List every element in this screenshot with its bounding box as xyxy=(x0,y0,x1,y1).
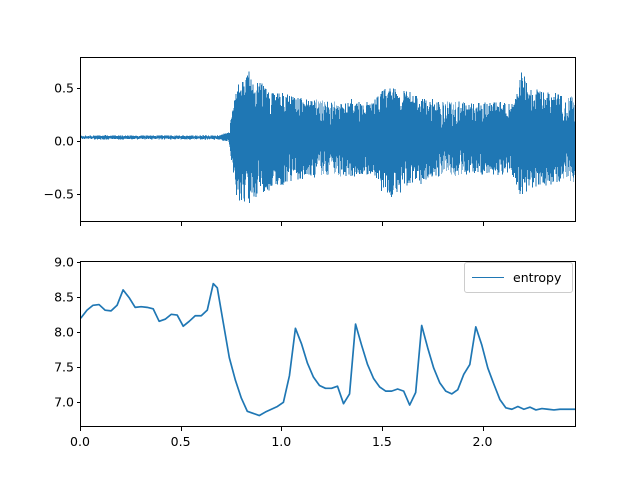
entropy-xtick-label-2: 1.0 xyxy=(271,434,291,449)
waveform-ytick-label-2: −0.5 xyxy=(20,187,74,202)
entropy-ytick-label-3: 7.5 xyxy=(26,359,74,374)
waveform-ytick-mark-1 xyxy=(77,141,81,142)
waveform-xtick-mark-0 xyxy=(80,222,81,226)
entropy-xtick-label-4: 2.0 xyxy=(473,434,493,449)
legend[interactable]: entropy xyxy=(464,262,573,293)
entropy-xtick-mark-0 xyxy=(80,427,81,431)
entropy-xtick-label-0: 0.0 xyxy=(70,434,90,449)
entropy-ytick-label-2: 8.0 xyxy=(26,324,74,339)
entropy-ytick-label-0: 9.0 xyxy=(26,254,74,269)
legend-line-icon xyxy=(472,277,504,278)
entropy-xtick-mark-3 xyxy=(382,427,383,431)
waveform-axes xyxy=(80,57,576,222)
waveform-xtick-mark-2 xyxy=(281,222,282,226)
entropy-ytick-mark-4 xyxy=(77,402,81,403)
legend-label-entropy: entropy xyxy=(513,270,561,285)
waveform-xtick-mark-1 xyxy=(181,222,182,226)
waveform-ytick-mark-0 xyxy=(77,88,81,89)
entropy-ytick-mark-2 xyxy=(77,332,81,333)
entropy-xtick-mark-4 xyxy=(483,427,484,431)
waveform-xtick-mark-3 xyxy=(382,222,383,226)
waveform-ytick-mark-2 xyxy=(77,194,81,195)
entropy-xtick-label-1: 0.5 xyxy=(171,434,191,449)
entropy-ytick-mark-1 xyxy=(77,297,81,298)
waveform-xtick-mark-4 xyxy=(483,222,484,226)
waveform-plot-area xyxy=(81,58,575,221)
entropy-ytick-mark-3 xyxy=(77,367,81,368)
waveform-ytick-label-0: 0.5 xyxy=(26,81,74,96)
matplotlib-figure: 0.5 0.0 −0.5 9.0 8.5 8.0 7.5 7.0 0.0 0.5… xyxy=(0,0,640,480)
waveform-ytick-label-1: 0.0 xyxy=(26,134,74,149)
entropy-ytick-mark-0 xyxy=(77,262,81,263)
entropy-ytick-label-1: 8.5 xyxy=(26,289,74,304)
entropy-xtick-mark-1 xyxy=(181,427,182,431)
entropy-xtick-label-3: 1.5 xyxy=(372,434,392,449)
entropy-ytick-label-4: 7.0 xyxy=(26,394,74,409)
entropy-xtick-mark-2 xyxy=(281,427,282,431)
